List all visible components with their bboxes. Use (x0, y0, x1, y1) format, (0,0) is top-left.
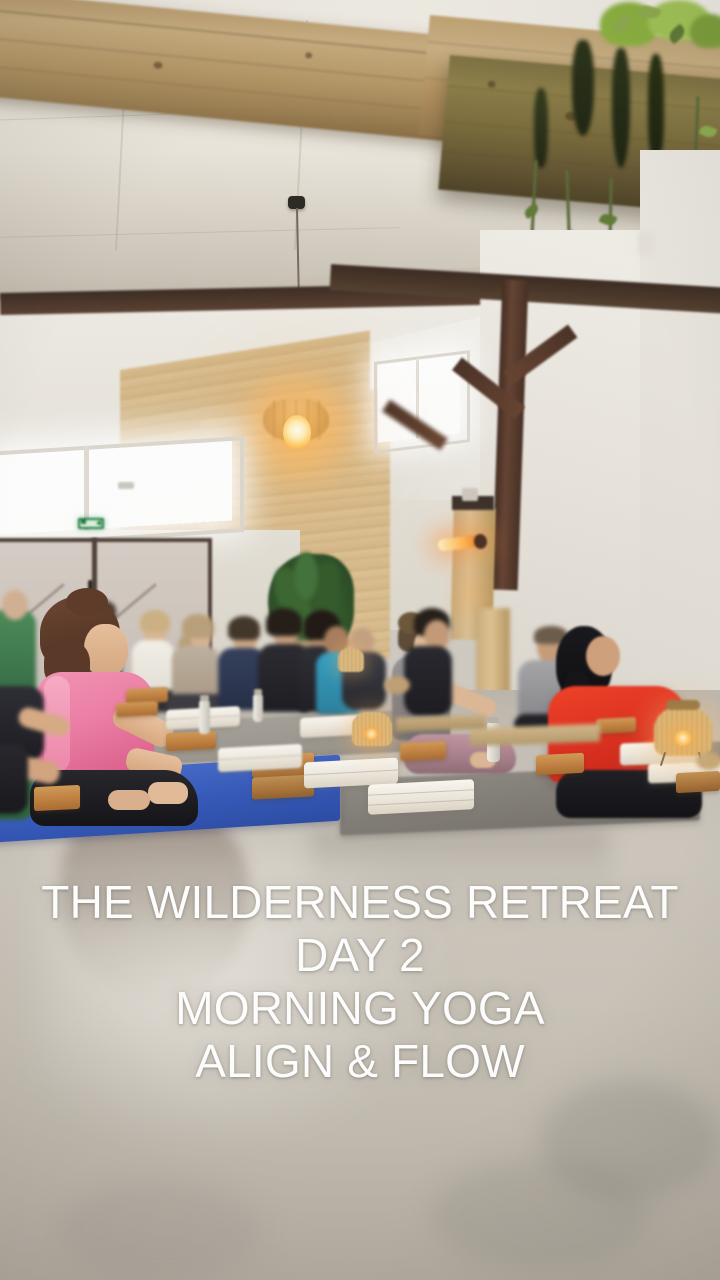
wood-object (384, 676, 410, 694)
caption-line-2: DAY 2 (0, 929, 720, 982)
folded-white-towel (368, 779, 474, 815)
beam-foliage (690, 14, 720, 48)
caption-line-1: THE WILDERNESS RETREAT (0, 876, 720, 929)
caption-line-4: ALIGN & FLOW (0, 1035, 720, 1088)
emergency-exit-sign (78, 518, 104, 529)
cork-yoga-block (400, 741, 446, 761)
large-window-frame (0, 436, 244, 548)
caption-line-3: MORNING YOGA (0, 982, 720, 1035)
floor-smudge (430, 1160, 650, 1270)
trailing-vine (572, 40, 594, 136)
trailing-vine (534, 88, 548, 168)
folded-white-towel (218, 744, 302, 772)
cork-yoga-block (676, 771, 720, 793)
cork-yoga-block (596, 717, 636, 734)
wood-object (696, 752, 720, 770)
lantern-lid (666, 700, 700, 710)
candle-flame (365, 728, 378, 740)
wall-fitting (638, 232, 654, 256)
cork-yoga-block (536, 753, 584, 776)
plant-frond (294, 552, 318, 600)
water-bottle (253, 694, 263, 722)
water-bottle (199, 700, 210, 734)
cork-yoga-block (166, 731, 216, 752)
wood-column (476, 608, 510, 700)
cork-yoga-block (116, 701, 158, 717)
wall-fitting (462, 488, 478, 501)
cork-yoga-block (34, 785, 80, 811)
light-bulb (283, 415, 311, 449)
foot (148, 782, 188, 804)
trailing-vine (648, 54, 664, 162)
video-frame: THE WILDERNESS RETREAT DAY 2 MORNING YOG… (0, 0, 720, 1280)
floor-smudge (60, 1180, 260, 1280)
window-latch (118, 482, 134, 489)
trailing-vine (612, 48, 630, 168)
caption-overlay: THE WILDERNESS RETREAT DAY 2 MORNING YOG… (0, 876, 720, 1088)
candle-flame (674, 730, 692, 746)
rattan-candle-lantern (338, 648, 364, 672)
foot (108, 790, 150, 810)
